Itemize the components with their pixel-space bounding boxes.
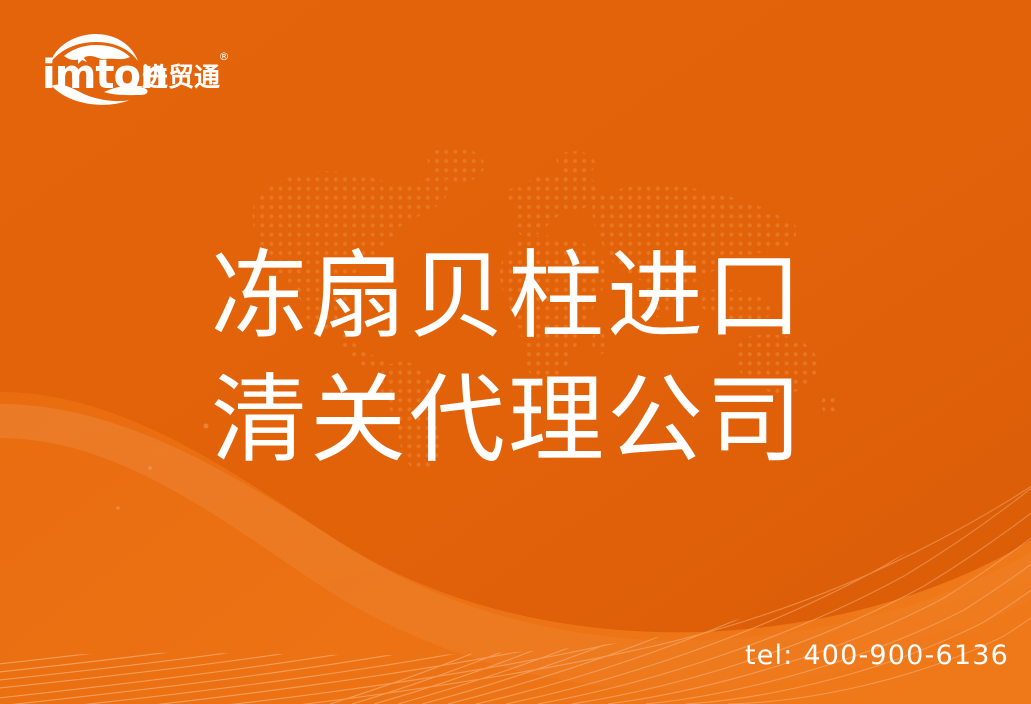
logo-chinese-name: 进贸通 — [142, 63, 220, 93]
headline-line-1: 冻扇贝柱进口 — [211, 234, 891, 358]
registered-trademark-icon: ® — [219, 50, 230, 63]
contact-phone[interactable]: tel: 400-900-6136 — [745, 640, 1009, 671]
headline-block: 冻扇贝柱进口 清关代理公司 — [211, 234, 891, 482]
brand-logo-svg: imton 进贸通 ® — [34, 30, 234, 108]
headline-line-2: 清关代理公司 — [211, 358, 891, 482]
brand-logo[interactable]: imton 进贸通 ® — [34, 30, 234, 108]
promo-banner: imton 进贸通 ® 冻扇贝柱进口 清关代理公司 tel: 400-900-6… — [0, 0, 1031, 704]
